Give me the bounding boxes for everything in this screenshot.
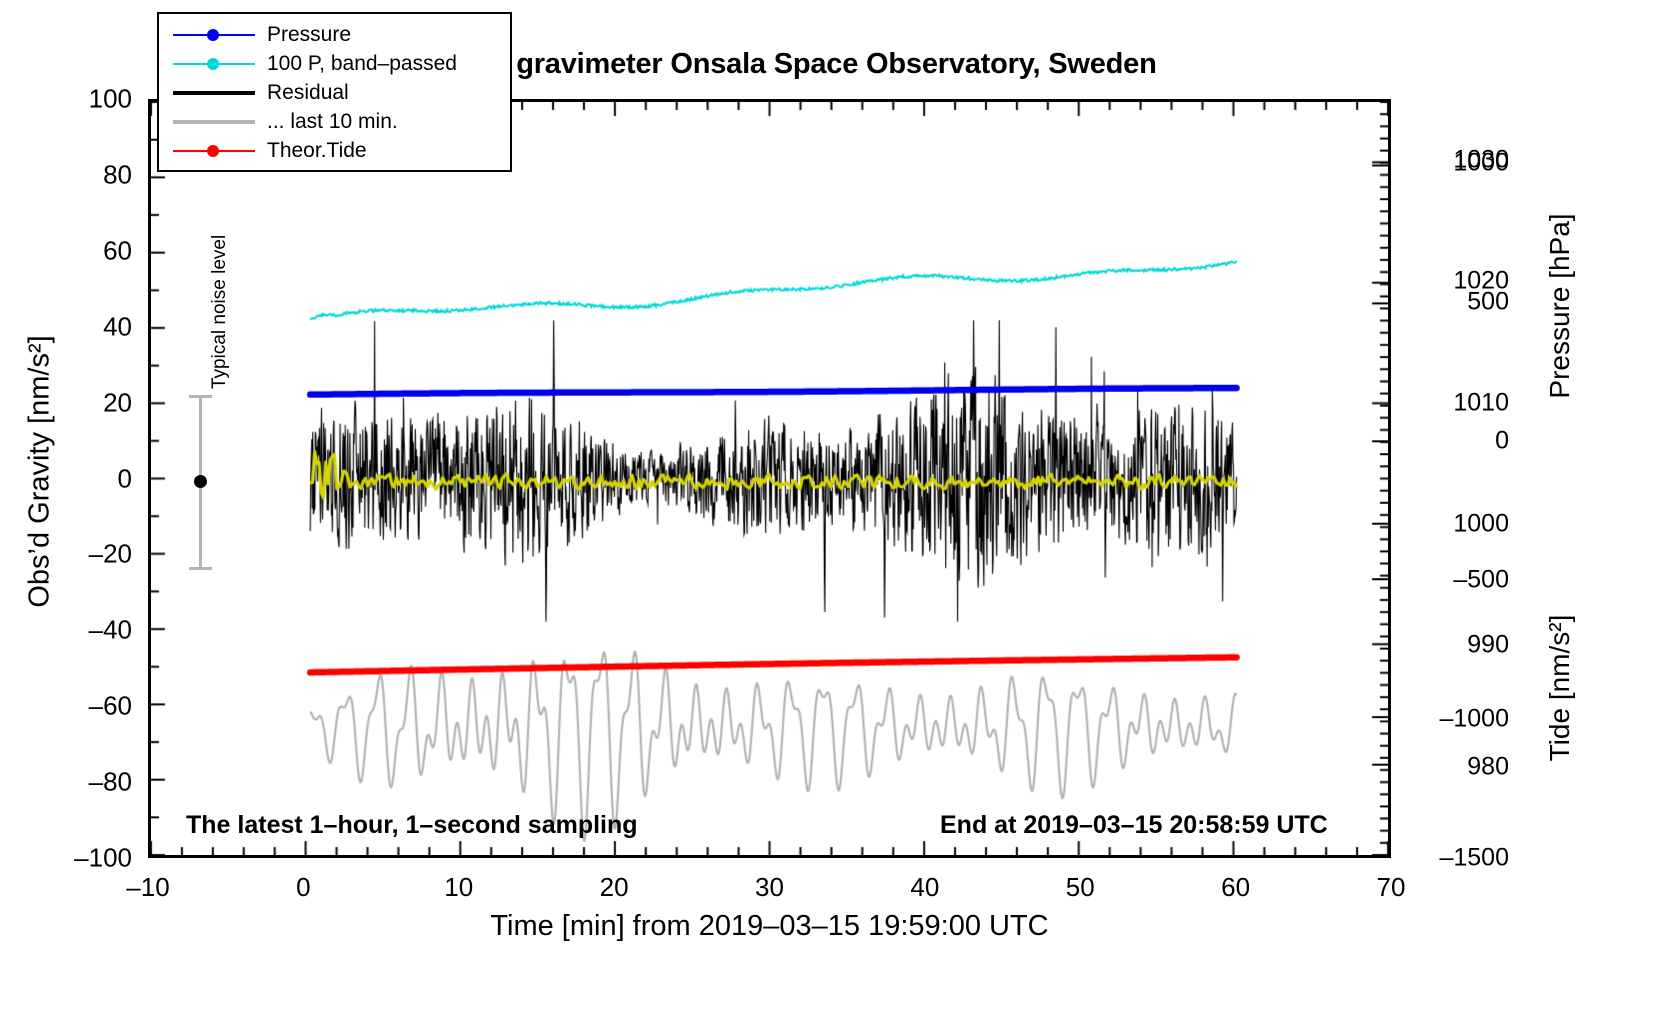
legend-label: ... last 10 min. [255,110,398,134]
sampling-note: The latest 1–hour, 1–second sampling [186,811,638,840]
plot-canvas [151,102,1388,855]
tide-tick-label: 0 [1404,426,1509,455]
y-axis-tide-title: Tide [nm/s²] [1544,543,1576,833]
y-axis-pressure-title: Pressure [hPa] [1544,146,1576,466]
legend-label: Pressure [255,23,351,47]
legend-item: Theor.Tide [159,136,510,165]
y-tick-label: –20 [89,539,132,570]
y-tick-label: –60 [89,691,132,722]
tide-tick-label: –1000 [1404,704,1509,733]
y-tick-label: 60 [103,235,132,266]
legend-dot-icon [207,58,219,70]
y-tick-label: –40 [89,615,132,646]
legend-item: 100 P, band–passed [159,49,510,78]
pressure-tick-label: 1000 [1404,510,1509,539]
tide-tick-label: 500 [1404,287,1509,316]
legend-item: Pressure [159,20,510,49]
pressure-tick-label: 1010 [1404,388,1509,417]
tide-tick-label: –1500 [1404,844,1509,873]
legend-swatch [173,25,255,45]
tide-tick-label: 1000 [1404,148,1509,177]
y-tick-label: –100 [74,843,132,874]
x-tick-label: 20 [600,872,629,903]
y-tick-label: 40 [103,311,132,342]
y-tick-label: –80 [89,767,132,798]
legend-swatch [173,83,255,103]
x-tick-label: 30 [755,872,784,903]
noise-error-bar-cap-bottom [189,567,212,570]
x-tick-label: 10 [444,872,473,903]
legend-line-icon [173,91,255,95]
x-tick-label: 50 [1066,872,1095,903]
chart-root: SCG_054 gravimeter Onsala Space Observat… [0,0,1660,1020]
y-axis-right-ticks: 103010201010100099098010005000–500–1000–… [1404,0,1524,1020]
end-time-note: End at 2019–03–15 20:58:59 UTC [940,811,1328,840]
x-axis-title: Time [min] from 2019–03–15 19:59:00 UTC [148,910,1391,943]
legend-label: Residual [255,81,349,105]
y-tick-label: 0 [118,463,132,494]
y-tick-label: 80 [103,159,132,190]
noise-level-label: Typical noise level [209,199,231,389]
legend-dot-icon [207,145,219,157]
legend-swatch [173,141,255,161]
legend-dot-icon [207,29,219,41]
legend-line-icon [173,120,255,124]
legend: Pressure100 P, band–passedResidual... la… [157,12,512,172]
tide-tick-label: –500 [1404,565,1509,594]
x-tick-label: 40 [910,872,939,903]
legend-item: Residual [159,78,510,107]
noise-level-annotation: Typical noise level [185,395,255,570]
y-tick-label: 100 [89,84,132,115]
y-axis-left-ticks: 100806040200–20–40–60–80–100 [0,0,132,1020]
legend-item: ... last 10 min. [159,107,510,136]
pressure-tick-label: 980 [1404,752,1509,781]
x-tick-label: 70 [1377,872,1406,903]
plot-area [148,99,1391,858]
x-tick-label: 60 [1221,872,1250,903]
legend-swatch [173,112,255,132]
legend-swatch [173,54,255,74]
legend-label: Theor.Tide [255,139,367,163]
pressure-tick-label: 990 [1404,631,1509,660]
x-tick-label: 0 [296,872,310,903]
noise-center-dot [194,475,207,488]
y-axis-left-title: Obs’d Gravity [nm/s²] [24,262,57,682]
x-tick-label: –10 [126,872,169,903]
legend-label: 100 P, band–passed [255,52,457,76]
noise-error-bar-cap-top [189,395,212,398]
y-tick-label: 20 [103,387,132,418]
